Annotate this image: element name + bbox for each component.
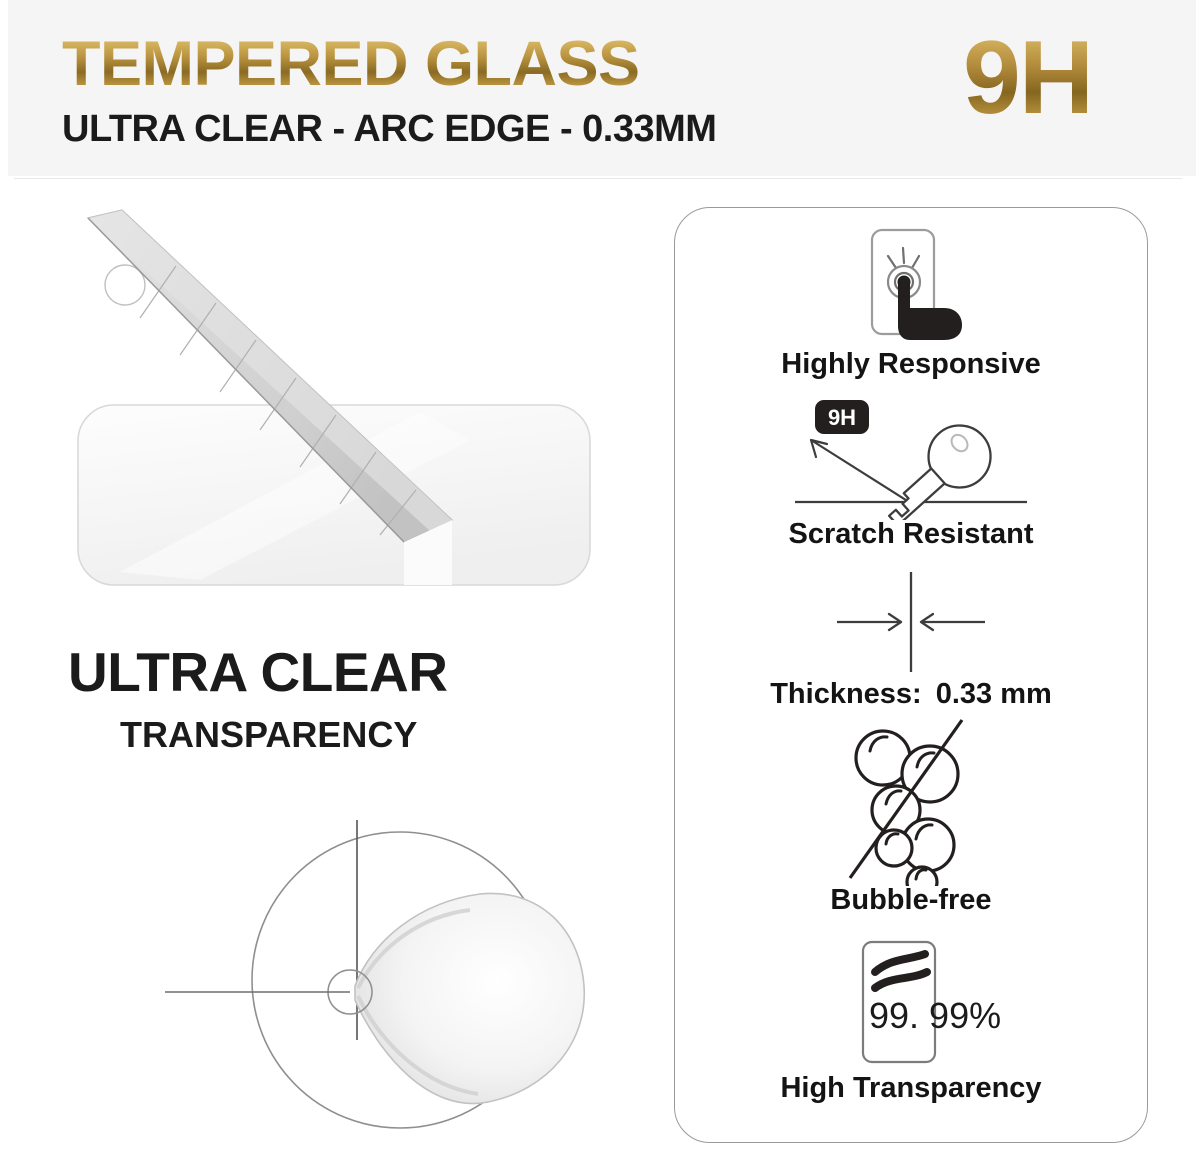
thickness-value: 0.33 mm [936,678,1052,710]
feature-scratch-resistant: 9H Scratch Resistant [675,396,1147,549]
feature-label-high-transparency: High Transparency [675,1074,1147,1103]
arc-edge-cross-section-icon [355,893,584,1103]
key-scratch-icon: 9H [781,396,1041,520]
feature-high-transparency: 99. 99% High Transparency [675,938,1147,1103]
infographic-canvas: TEMPERED GLASS ULTRA CLEAR - ARC EDGE - … [0,0,1196,1161]
feature-thickness: Thickness:0.33 mm [675,566,1147,711]
feature-label-scratch-resistant: Scratch Resistant [675,520,1147,549]
left-subhead: TRANSPARENCY [120,717,417,753]
blade-over-glass-illustration [0,190,660,640]
page-title: TEMPERED GLASS [62,33,640,96]
hardness-badge: 9H [963,26,1092,130]
feature-highly-responsive: Highly Responsive [675,222,1147,379]
page-subtitle: ULTRA CLEAR - ARC EDGE - 0.33MM [62,110,716,148]
touch-phone-icon [836,222,986,350]
arc-edge-diagram [0,790,660,1161]
thickness-label-prefix: Thickness: [770,678,922,710]
thickness-arrows-icon [801,566,1021,678]
feature-label-highly-responsive: Highly Responsive [675,350,1147,379]
deflection-arrow [811,440,909,502]
transparency-phone-icon: 99. 99% [791,938,1031,1074]
transparency-value: 99. 99% [869,995,1001,1036]
svg-text:9H: 9H [828,405,856,430]
header-divider [14,178,1182,179]
thickness-readout: Thickness:0.33 mm [675,678,1147,711]
left-headline: ULTRA CLEAR [68,645,447,700]
bubbles-crossed-icon [816,718,1006,886]
feature-bubble-free: Bubble-free [675,718,1147,915]
feature-label-bubble-free: Bubble-free [675,886,1147,915]
left-panel: ULTRA CLEAR TRANSPARENCY [0,190,660,1150]
hardness-chip-icon: 9H [815,400,869,434]
key-icon [859,413,1004,520]
features-panel: Highly Responsive 9H [674,207,1148,1143]
